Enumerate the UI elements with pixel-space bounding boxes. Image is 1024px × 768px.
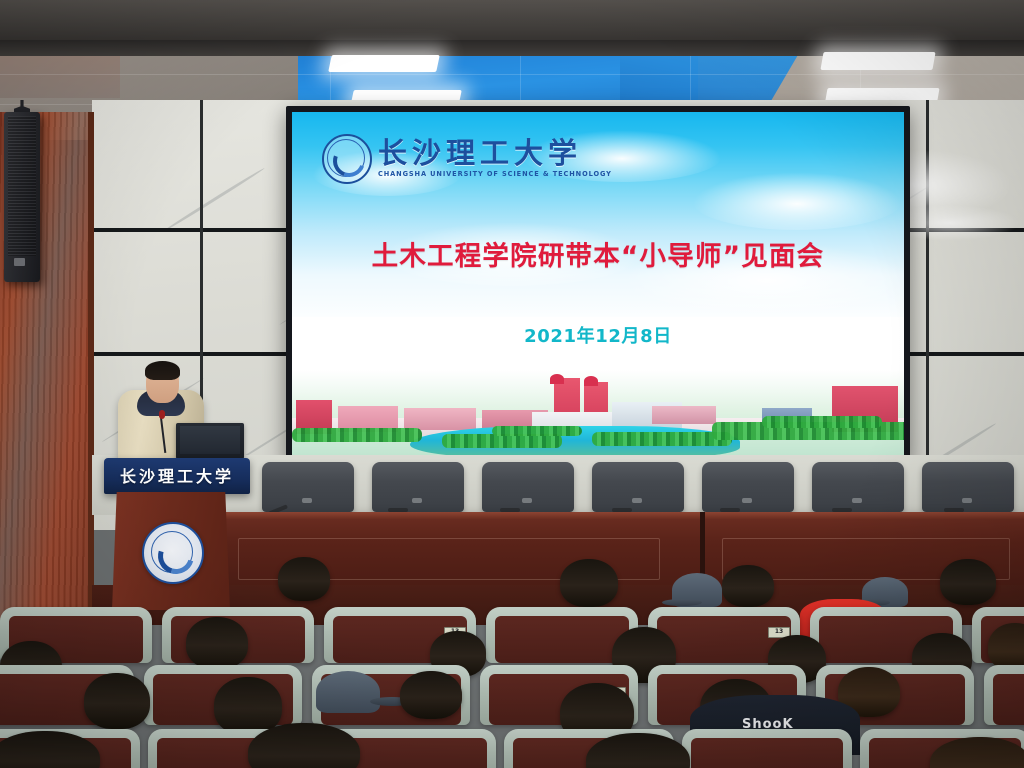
led-screen[interactable]: 长沙理工大学 CHANGSHA UNIVERSITY OF SCIENCE & … [292,112,904,458]
audience-head [84,673,150,729]
slide-university-logo: 长沙理工大学 CHANGSHA UNIVERSITY OF SCIENCE & … [322,130,572,192]
audience-head [400,671,462,719]
audience-head [722,565,774,607]
stage-chair [482,462,574,512]
campus-panorama-image [292,370,904,458]
audience-head [940,559,996,605]
stage-table-top [222,512,1024,519]
podium-microphone-icon [159,410,165,419]
slide-date: 2021年12月8日 [292,322,904,348]
audience-area: 13 13 13 13 [0,555,1024,768]
podium-name-plate: 长沙理工大学 [104,463,250,487]
slide-title: 土木工程学院研带本“小导师”见面会 [292,234,904,273]
presenter-hair [145,361,180,380]
university-english-name: CHANGSHA UNIVERSITY OF SCIENCE & TECHNOL… [378,170,612,178]
audience-head [988,623,1024,671]
audience-head [278,557,330,601]
wood-wall-edge [88,112,94,632]
audience-cap-icon [316,671,380,713]
speaker-badge [14,258,25,266]
stage-chair [702,462,794,512]
audience-head [186,617,248,669]
auditorium-seat[interactable] [682,729,852,768]
ceiling-warm-patch [0,52,120,98]
cap-brim [662,599,702,606]
ceiling-light [820,52,935,70]
ceiling-light [328,55,440,72]
stage-chair [262,462,354,512]
ceiling-grid-line [0,74,1024,75]
laptop-screen [180,426,240,454]
audience-head [214,677,282,735]
stage-chair [922,462,1014,512]
column-speaker-icon [4,112,40,282]
audience-head [560,559,618,607]
auditorium-photo: 长沙理工大学 CHANGSHA UNIVERSITY OF SCIENCE & … [0,0,1024,768]
stage-chair [812,462,904,512]
stage-chair [372,462,464,512]
auditorium-seat[interactable] [984,665,1024,725]
university-chinese-name: 长沙理工大学 [378,130,582,172]
stage-chair [592,462,684,512]
